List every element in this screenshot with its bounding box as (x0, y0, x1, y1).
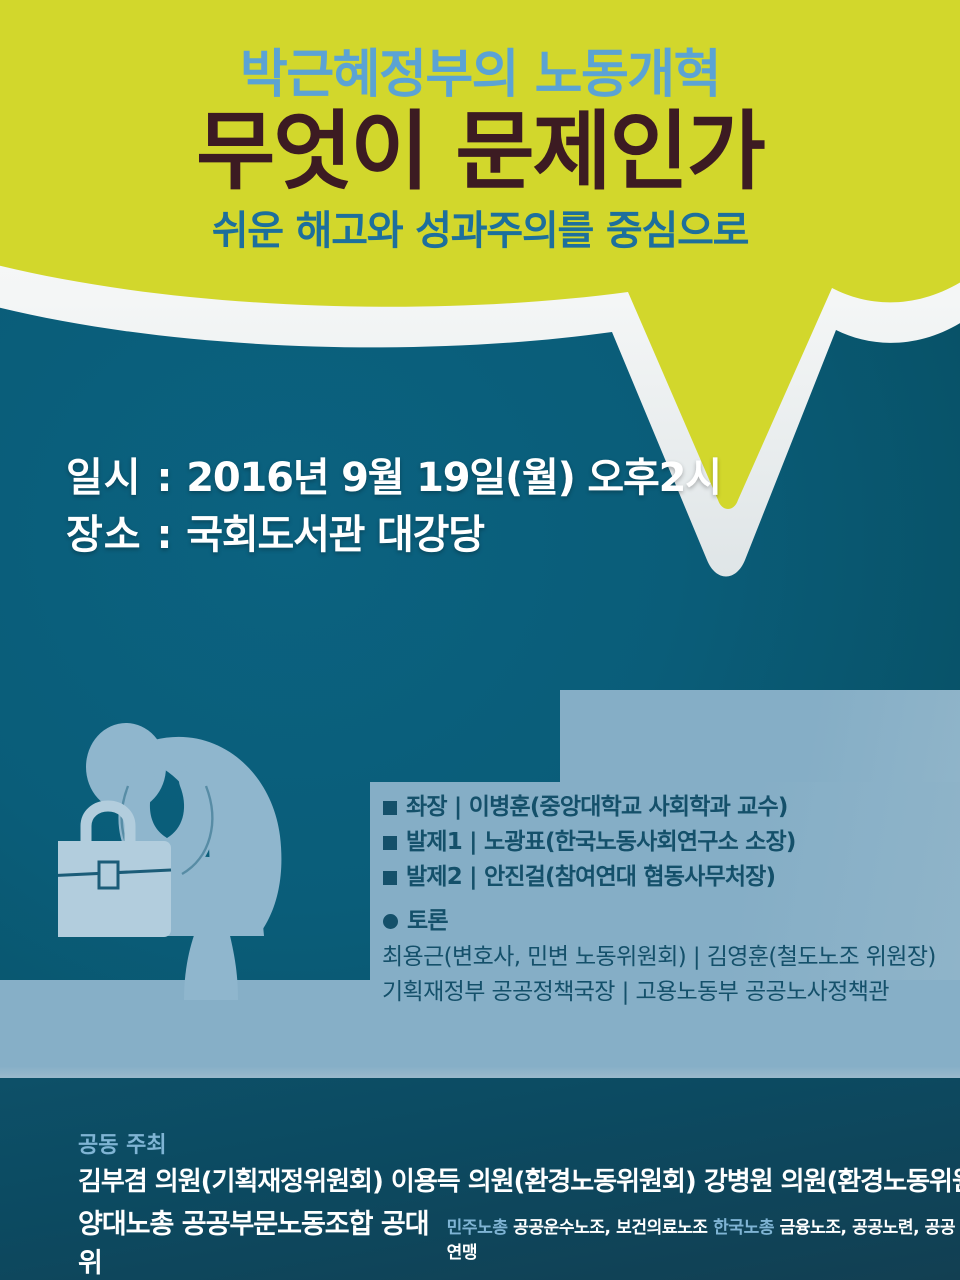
program-row-label: 발제2 | 안진걸(참여연대 협동사무처장) (406, 866, 775, 889)
event-venue-line: 장소 : 국회도서관 대강당 (66, 507, 721, 564)
event-details: 일시 : 2016년 9월 19일(월) 오후2시 장소 : 국회도서관 대강당 (66, 450, 721, 564)
program-row-chair: 좌장 | 이병훈(중앙대학교 사회학과 교수) (383, 790, 936, 825)
organizers-heading: 공동 주최 (78, 1127, 167, 1159)
program-row-presentation-1: 발제1 | 노광표(한국노동사회연구소 소장) (383, 825, 936, 860)
program-row-label: 토론 (407, 910, 448, 933)
union-federation-2-label: 한국노총 (713, 1218, 774, 1238)
event-datetime-line: 일시 : 2016년 9월 19일(월) 오후2시 (66, 450, 721, 507)
square-bullet-icon (383, 836, 397, 850)
organizers-unions-detail: 민주노총 공공운수노조, 보건의료노조 한국노총 금융노조, 공공노련, 공공연… (447, 1213, 960, 1263)
event-venue-value: 국회도서관 대강당 (186, 512, 484, 558)
event-datetime-label: 일시 : (66, 455, 174, 501)
program-row-discussion: 토론 (383, 904, 936, 939)
organizers-unions: 양대노총 공공부문노동조합 공대위 민주노총 공공운수노조, 보건의료노조 한국… (78, 1202, 960, 1280)
organizers-lawmakers: 김부겸 의원(기획재정위원회) 이용득 의원(환경노동위원회) 강병원 의원(환… (78, 1161, 960, 1198)
circle-bullet-icon (383, 914, 398, 929)
program-list: 좌장 | 이병훈(중앙대학교 사회학과 교수) 발제1 | 노광표(한국노동사회… (383, 790, 936, 1010)
panelists-line-2: 기획재정부 공공정책국장 | 고용노동부 공공노사정책관 (382, 976, 936, 1009)
program-row-presentation-2: 발제2 | 안진걸(참여연대 협동사무처장) (383, 860, 936, 895)
union-federation-1-label: 민주노총 (447, 1218, 508, 1238)
poster-canvas: 박근혜정부의 노동개혁 무엇이 문제인가 쉬운 해고와 성과주의를 중심으로 일… (0, 0, 960, 1280)
program-row-label: 좌장 | 이병훈(중앙대학교 사회학과 교수) (406, 796, 788, 819)
panelists-line-1: 최용근(변호사, 민변 노동위원회) | 김영훈(철도노조 위원장) (382, 941, 936, 974)
organizers-unions-main: 양대노총 공공부문노동조합 공대위 (78, 1202, 435, 1280)
organizers-bar: 공동 주최 김부겸 의원(기획재정위원회) 이용득 의원(환경노동위원회) 강병… (0, 1078, 960, 1280)
seated-person-illustration (58, 710, 388, 1000)
square-bullet-icon (383, 801, 397, 815)
program-row-label: 발제1 | 노광표(한국노동사회연구소 소장) (406, 831, 796, 854)
event-datetime-value: 2016년 9월 19일(월) 오후2시 (186, 455, 721, 501)
bubble-fill (0, 0, 960, 509)
square-bullet-icon (383, 871, 397, 885)
union-federation-1-orgs: 공공운수노조, 보건의료노조 (513, 1218, 707, 1238)
platform-step-upper (560, 690, 960, 782)
event-venue-label: 장소 : (66, 512, 174, 558)
